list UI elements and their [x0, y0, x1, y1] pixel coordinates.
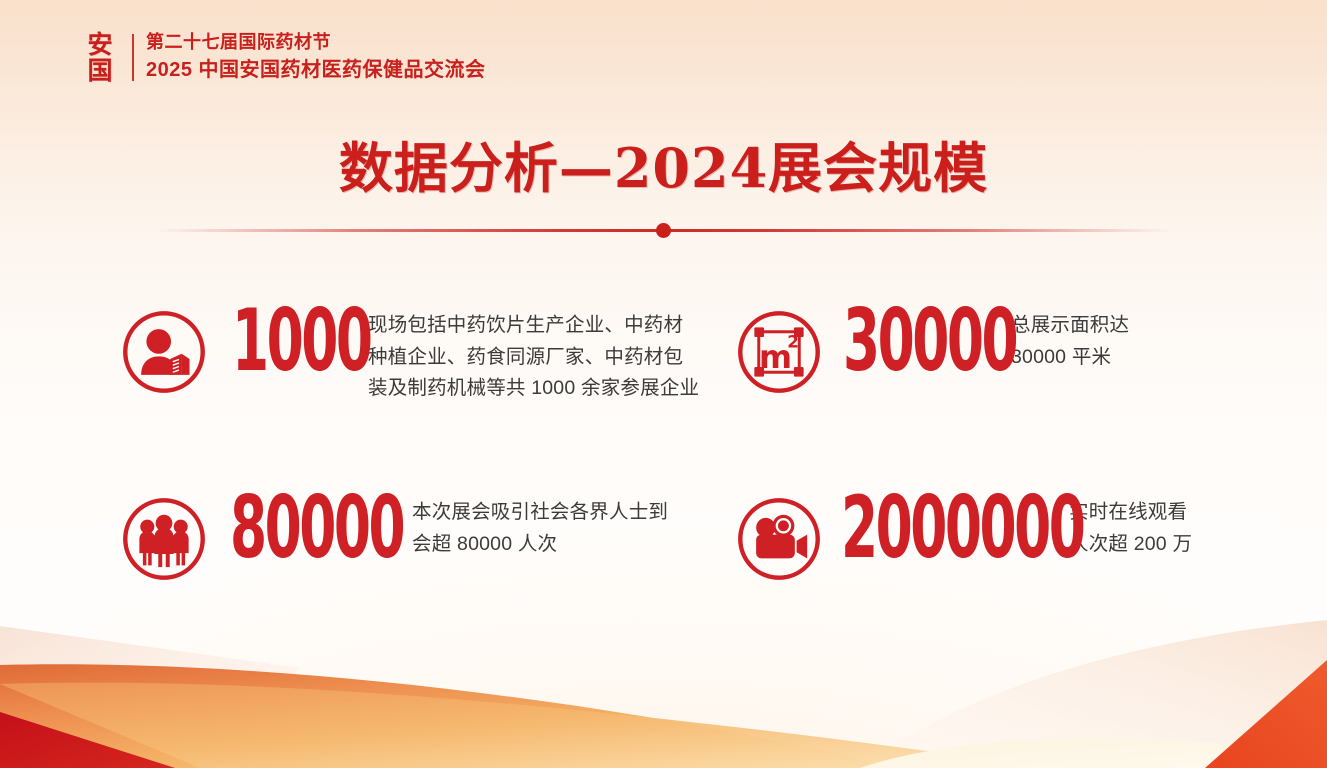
logo-line-2: 2025 中国安国药材医药保健品交流会: [146, 57, 486, 83]
seal-char-guo: 国: [87, 58, 112, 83]
square-meter-icon: m 2: [735, 308, 823, 396]
stat-desc-area: 总展示面积达 30000 平米: [1011, 306, 1327, 373]
stat-card-area: m 2 30000 总展示面积达 30000 平米: [735, 288, 1327, 483]
stat-desc-line: 总展示面积达: [1011, 310, 1327, 342]
wave-deep-red-wedge: [0, 712, 175, 768]
page-title-wrapper: 数据分析—2024展会规模: [0, 124, 1327, 203]
stat-desc-online-views: 实时在线观看 人次超 200 万: [1069, 493, 1327, 560]
stat-desc-line: 人次超 200 万: [1069, 529, 1327, 561]
stat-card-online-views: 2000000 实时在线观看 人次超 200 万: [735, 483, 1327, 678]
divider-dot: [656, 223, 671, 238]
stat-number-online-views: 2000000: [841, 489, 976, 568]
svg-text:2: 2: [787, 332, 799, 352]
stat-number-slot: 1000: [232, 306, 360, 381]
stat-card-exhibitors: 1000 现场包括中药饮片生产企业、中药材 种植企业、药食同源厂家、中药材包 装…: [120, 288, 735, 483]
stat-number-exhibitors: 1000: [232, 302, 311, 381]
anguo-seal-logo: 安 国: [78, 28, 122, 86]
event-logo-header: 安 国 第二十七届国际药材节 2025 中国安国药材医药保健品交流会: [78, 28, 486, 86]
page-title: 数据分析—2024展会规模: [0, 124, 1327, 203]
stat-desc-line: 会超 80000 人次: [412, 529, 735, 561]
stat-desc-exhibitors: 现场包括中药饮片生产企业、中药材 种植企业、药食同源厂家、中药材包 装及制药机械…: [368, 306, 735, 405]
wave-orange-back: [0, 664, 900, 768]
title-divider: [155, 228, 1172, 233]
stat-number-area: 30000: [843, 302, 942, 381]
stat-desc-line: 装及制药机械等共 1000 余家参展企业: [368, 373, 735, 405]
logo-text-block: 第二十七届国际药材节 2025 中国安国药材医药保健品交流会: [146, 31, 486, 83]
stat-desc-line: 30000 平米: [1011, 342, 1327, 374]
seal-char-an: 安: [87, 32, 112, 57]
wave-cream-bottom: [860, 738, 1327, 768]
video-camera-icon: [735, 495, 823, 583]
stat-number-slot: 30000: [843, 306, 1003, 381]
three-people-icon: [120, 495, 208, 583]
stats-grid: 1000 现场包括中药饮片生产企业、中药材 种植企业、药食同源厂家、中药材包 装…: [0, 288, 1327, 678]
stat-desc-line: 实时在线观看: [1069, 497, 1327, 529]
slide-canvas: 安 国 第二十七届国际药材节 2025 中国安国药材医药保健品交流会 数据分析—…: [0, 0, 1327, 768]
stat-number-slot: 80000: [230, 493, 402, 568]
wave-orange-front: [0, 683, 1050, 768]
logo-divider-rule: [132, 34, 134, 81]
stat-number-slot: 2000000: [841, 493, 1059, 568]
stat-desc-visitors: 本次展会吸引社会各界人士到 会超 80000 人次: [412, 493, 735, 560]
stat-desc-line: 种植企业、药食同源厂家、中药材包: [368, 342, 735, 374]
stat-desc-line: 现场包括中药饮片生产企业、中药材: [368, 310, 735, 342]
stat-number-visitors: 80000: [230, 489, 337, 568]
stat-desc-line: 本次展会吸引社会各界人士到: [412, 497, 735, 529]
logo-line-1: 第二十七届国际药材节: [146, 31, 486, 55]
stat-card-visitors: 80000 本次展会吸引社会各界人士到 会超 80000 人次: [120, 483, 735, 678]
person-building-icon: [120, 308, 208, 396]
